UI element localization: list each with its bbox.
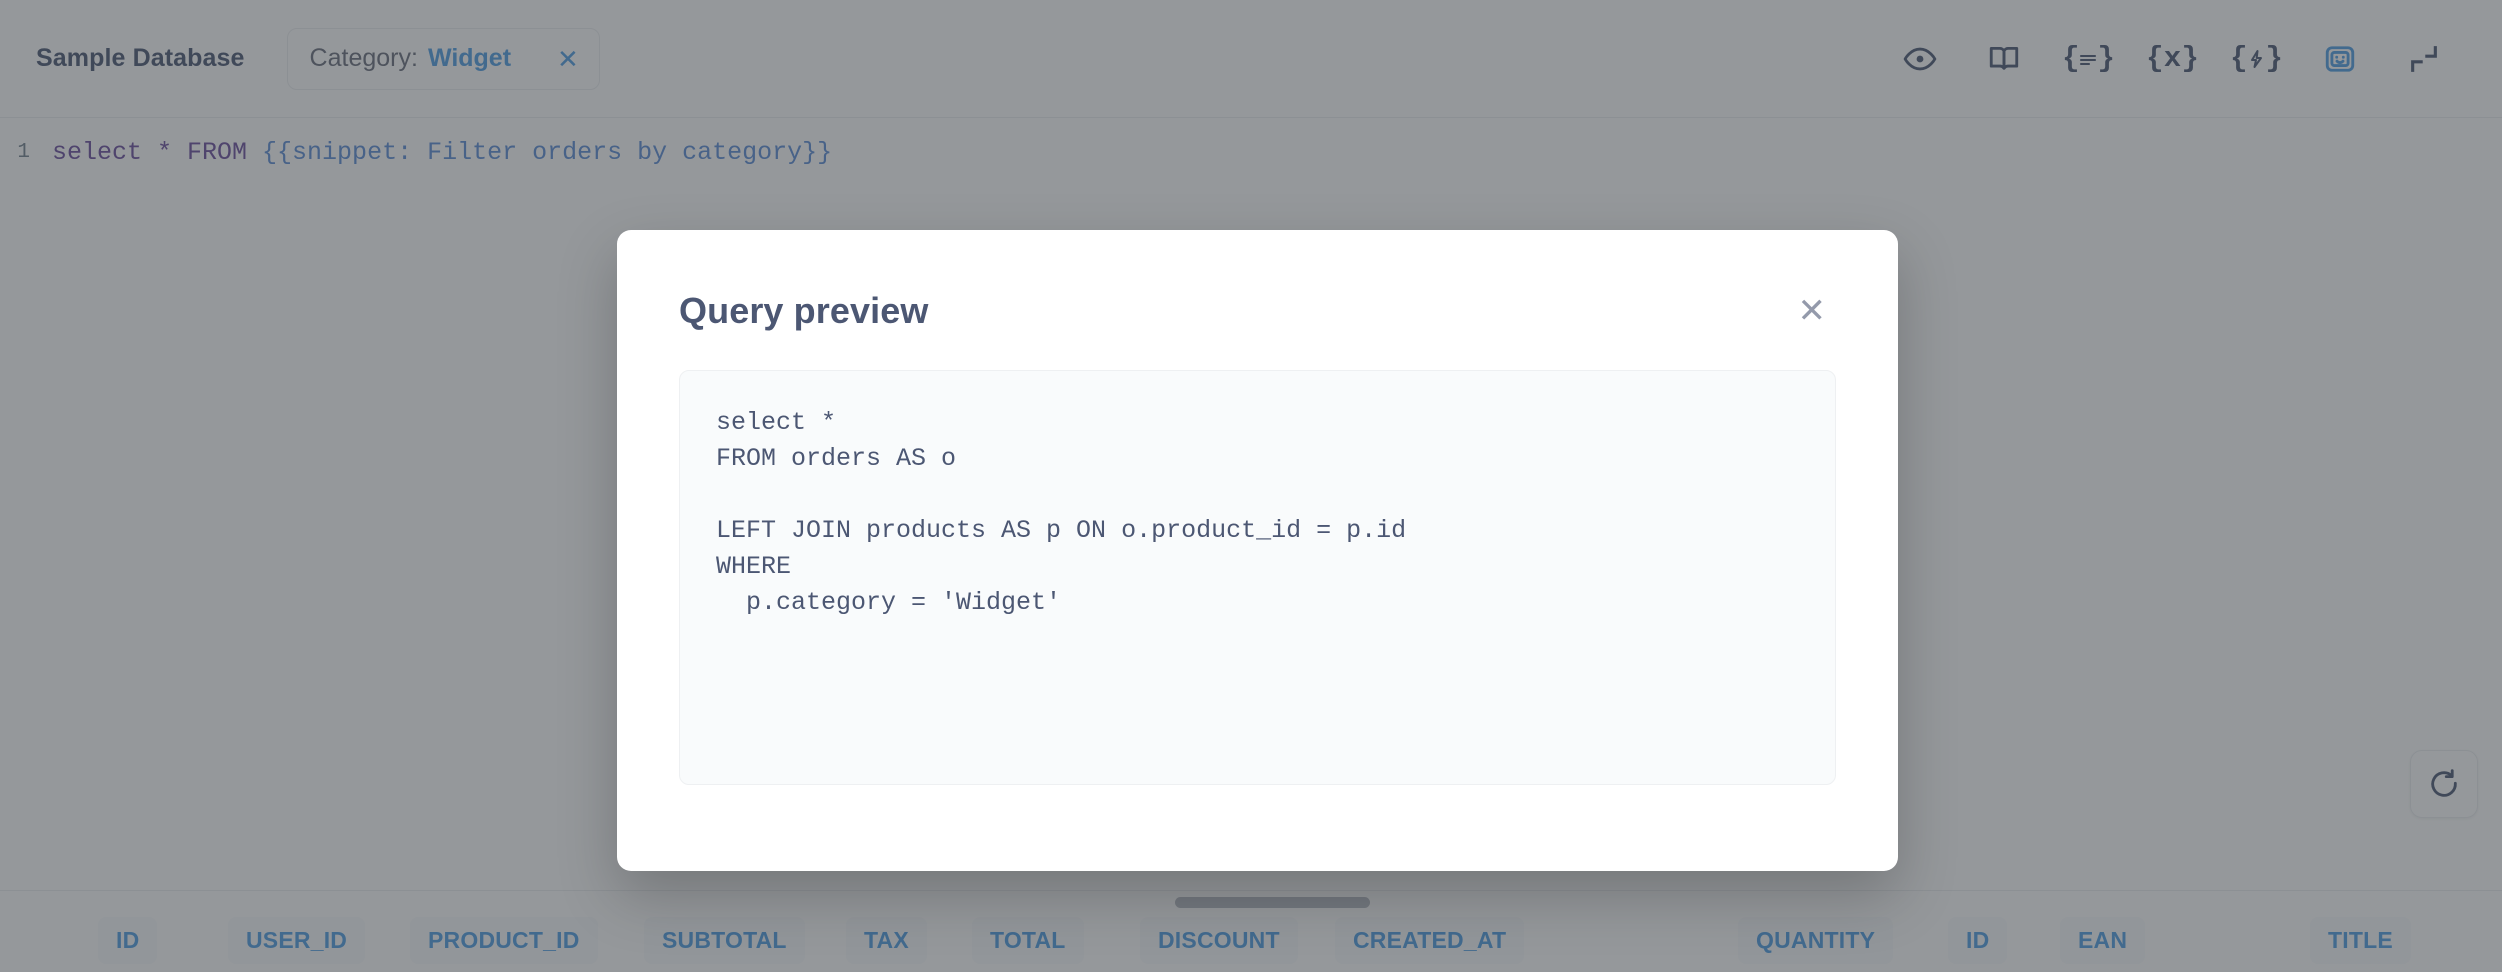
modal-header: Query preview ✕ <box>679 230 1836 370</box>
query-preview-modal: Query preview ✕ select * FROM orders AS … <box>617 230 1898 871</box>
modal-title: Query preview <box>679 290 928 332</box>
close-icon[interactable]: ✕ <box>1788 288 1837 334</box>
query-preview-sql: select * FROM orders AS o LEFT JOIN prod… <box>716 405 1799 621</box>
query-preview-code-card: select * FROM orders AS o LEFT JOIN prod… <box>679 370 1836 785</box>
